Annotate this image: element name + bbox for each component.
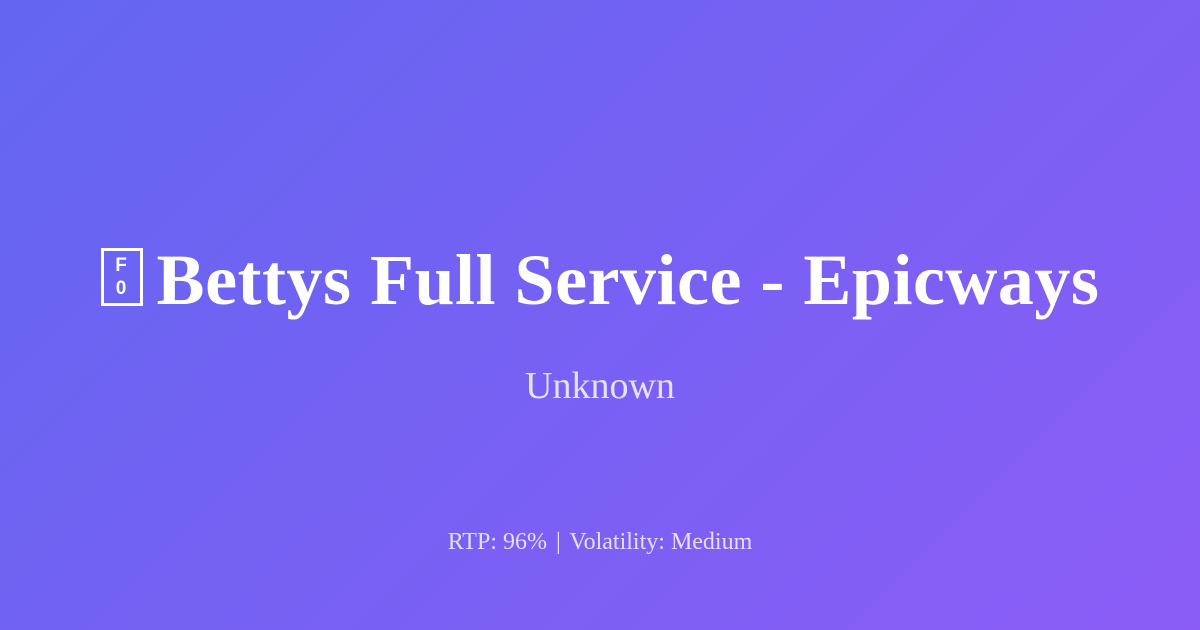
volatility-label: Volatility: (569, 529, 665, 555)
tofu-digit-top: F (115, 256, 128, 275)
tofu-codepoint-digits: F0 (104, 251, 140, 303)
game-meta-line: RTP: 96% | Volatility: Medium (0, 527, 1200, 557)
title-row: F0Bettys Full Service - Epicways (0, 232, 1200, 328)
meta-separator: | (553, 529, 564, 555)
slot-machine-icon: F0 (101, 248, 143, 306)
og-share-card: F0Bettys Full Service - Epicways Unknown… (0, 0, 1200, 630)
tofu-digit-bottom: 0 (116, 279, 128, 298)
rtp-label: RTP: (448, 529, 497, 555)
rtp-value: 96% (503, 529, 547, 555)
page-title: F0Bettys Full Service - Epicways (101, 244, 1100, 316)
page-title-text: Bettys Full Service - Epicways (157, 240, 1100, 320)
volatility-value: Medium (671, 529, 752, 555)
subtitle: Unknown (0, 364, 1200, 410)
